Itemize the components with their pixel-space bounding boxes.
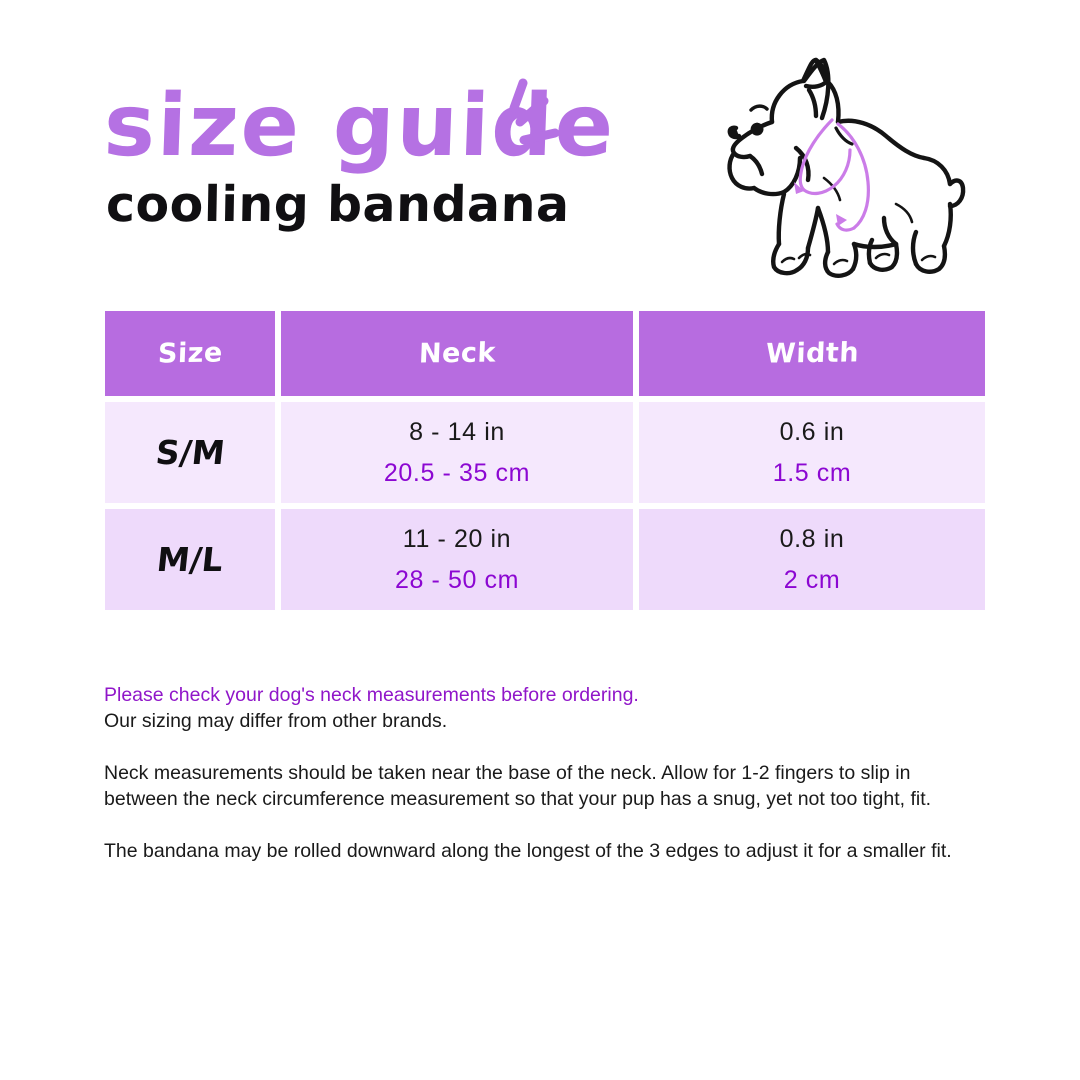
note-accent-line: Please check your dog's neck measurement… xyxy=(104,682,976,708)
width-inches-value: 0.8 in xyxy=(780,527,845,552)
spacer xyxy=(104,812,976,838)
size-chart-table: Size Neck Width S/M 8 - 14 in 20.5 - 35 … xyxy=(105,311,875,610)
cell-neck: 11 - 20 in 28 - 50 cm xyxy=(281,509,633,610)
column-header-width-label: Width xyxy=(765,337,859,369)
page-header: size guide cooling bandana xyxy=(0,0,1080,290)
neck-inches-value: 11 - 20 in xyxy=(403,527,511,552)
note-paragraph-1: Neck measurements should be taken near t… xyxy=(104,760,976,812)
table-row: M/L 11 - 20 in 28 - 50 cm 0.8 in 2 cm xyxy=(105,509,875,610)
width-inches-value: 0.6 in xyxy=(780,420,845,445)
note-paragraph-2: The bandana may be rolled downward along… xyxy=(104,838,976,864)
table-row: S/M 8 - 14 in 20.5 - 35 cm 0.6 in 1.5 cm xyxy=(105,402,875,503)
neck-cm-value: 20.5 - 35 cm xyxy=(384,461,530,486)
width-cm-value: 2 cm xyxy=(784,568,841,593)
cell-width: 0.8 in 2 cm xyxy=(639,509,985,610)
cell-neck: 8 - 14 in 20.5 - 35 cm xyxy=(281,402,633,503)
size-label: S/M xyxy=(154,433,227,472)
cell-size: S/M xyxy=(105,402,275,503)
dog-neck-measurement-illustration xyxy=(700,48,984,284)
cell-size: M/L xyxy=(105,509,275,610)
column-header-size-label: Size xyxy=(157,338,223,370)
sparkle-lines-icon xyxy=(492,78,572,164)
neck-cm-value: 28 - 50 cm xyxy=(395,568,519,593)
width-cm-value: 1.5 cm xyxy=(773,461,852,486)
column-header-width: Width xyxy=(639,311,985,396)
note-plain-line: Our sizing may differ from other brands. xyxy=(104,708,976,734)
column-header-neck-label: Neck xyxy=(418,337,496,369)
column-header-neck: Neck xyxy=(281,311,633,396)
table-header-row: Size Neck Width xyxy=(105,311,875,396)
cell-width: 0.6 in 1.5 cm xyxy=(639,402,985,503)
column-header-size: Size xyxy=(105,311,275,396)
neck-inches-value: 8 - 14 in xyxy=(409,420,505,445)
size-label: M/L xyxy=(155,540,225,579)
page-subtitle: cooling bandana xyxy=(106,180,575,229)
spacer xyxy=(104,734,976,760)
sizing-notes: Please check your dog's neck measurement… xyxy=(104,682,976,864)
